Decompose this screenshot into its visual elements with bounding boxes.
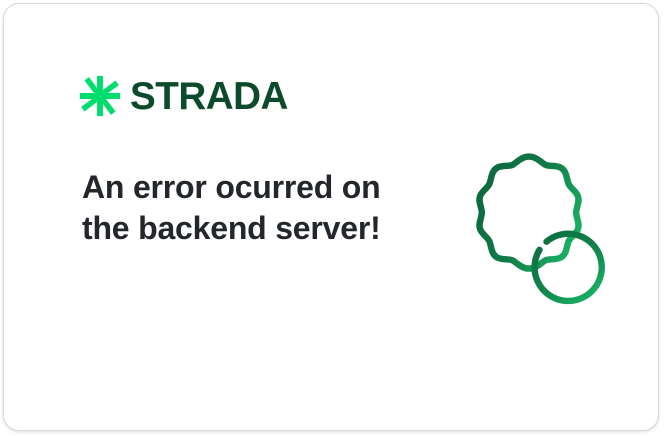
- error-headline: An error ocurred on the backend server!: [82, 167, 382, 249]
- error-card: STRADA An error ocurred on the backend s…: [3, 3, 659, 431]
- gear-cog-icon: [448, 147, 610, 307]
- brand-lockup: STRADA: [79, 72, 290, 120]
- strada-asterisk-mark-icon: [79, 75, 121, 117]
- brand-wordmark: STRADA: [130, 77, 288, 116]
